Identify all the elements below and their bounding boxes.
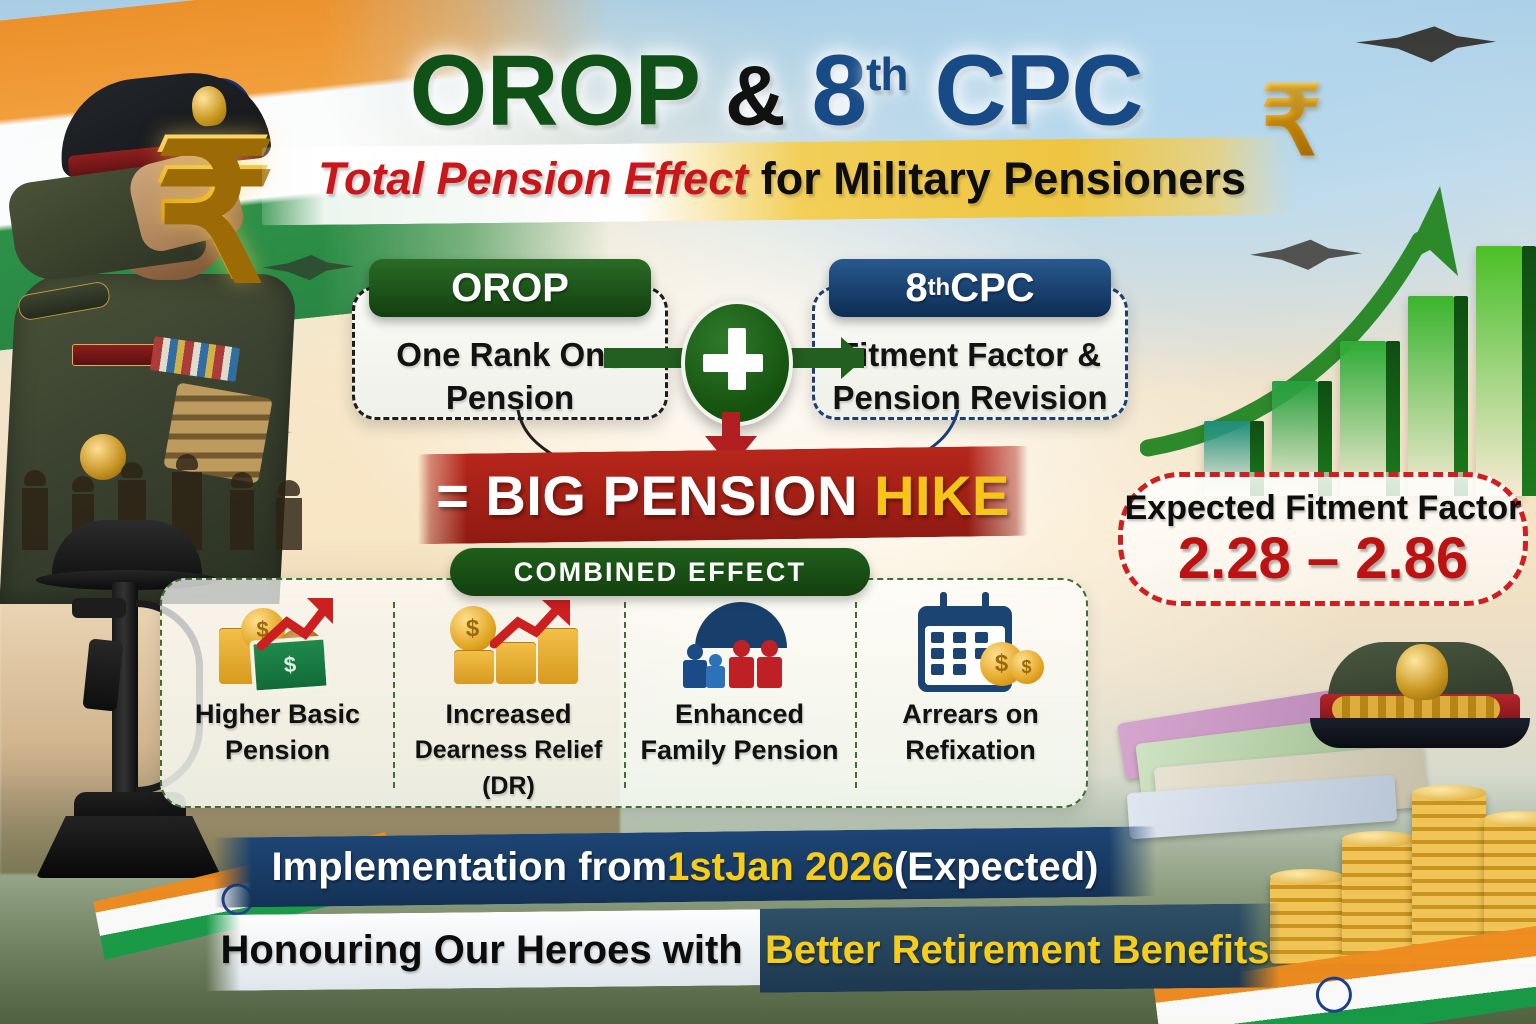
calendar-coins-icon: $ $ xyxy=(896,602,1046,688)
headline-equals: = xyxy=(436,463,469,528)
benefit-2-line1: Enhanced xyxy=(675,699,804,729)
chart-bar-4 xyxy=(1408,296,1454,496)
benefit-increased-dearness-relief[interactable]: $ Increased Dearness Relief (DR) xyxy=(393,580,624,806)
chart-bar-5 xyxy=(1476,246,1522,496)
benefit-2-line2: Family Pension xyxy=(640,732,838,768)
family-umbrella-icon xyxy=(665,602,815,688)
benefit-arrears-on-refixation[interactable]: $ $ Arrears on Refixation xyxy=(855,580,1086,806)
card-orop-line1: One Rank One xyxy=(396,336,623,373)
benefit-label-3: Arrears on Refixation xyxy=(902,696,1039,768)
benefits-panel: $ $ $ Higher Basic Pension $ xyxy=(160,578,1088,808)
subtitle-highlight: Total Pension Effect xyxy=(318,153,748,204)
implementation-date-rest: Jan 2026 xyxy=(725,845,894,890)
coins-stacks-uparrow-icon: $ xyxy=(434,602,584,688)
title-cpc-number: 8 xyxy=(811,34,866,146)
army-officer-peaked-cap xyxy=(1310,642,1526,750)
honour-prefix: Honouring Our Heroes with xyxy=(220,928,742,973)
chart-bar-side-5 xyxy=(1522,246,1536,496)
benefit-0-line1: Higher Basic xyxy=(195,699,360,729)
benefit-3-line1: Arrears on xyxy=(902,699,1039,729)
plus-icon xyxy=(681,300,793,426)
benefit-label-1: Increased Dearness Relief (DR) xyxy=(393,696,624,804)
infographic-canvas: ₹ ₹ OROP & 8th CPC Total Pension Effect … xyxy=(0,0,1536,1024)
combined-effect-badge: COMBINED EFFECT xyxy=(450,548,870,596)
rupee-symbol-chart: ₹ xyxy=(152,116,273,306)
title-orop: OROP xyxy=(410,34,699,146)
pension-growth-bar-chart xyxy=(1148,196,1528,496)
benefit-1-line1: Increased xyxy=(445,699,571,729)
arrow-left-to-plus xyxy=(604,348,690,368)
expected-fitment-factor-callout: Expected Fitment Factor 2.28 – 2.86 xyxy=(1118,472,1528,606)
implementation-prefix: Implementation from xyxy=(272,845,668,890)
benefit-1-line2: Dearness Relief (DR) xyxy=(393,732,624,804)
headline-white: BIG PENSION xyxy=(485,463,858,528)
implementation-suffix: (Expected) xyxy=(894,845,1099,890)
benefit-0-line2: Pension xyxy=(195,732,360,768)
honour-highlight: Better Retirement Benefits xyxy=(765,928,1270,973)
benefit-label-2: Enhanced Family Pension xyxy=(640,696,838,768)
title-cpc-suffix: th xyxy=(866,48,907,100)
fitment-value: 2.28 – 2.86 xyxy=(1178,528,1468,590)
benefit-3-line2: Refixation xyxy=(902,732,1039,768)
implementation-date-sup: st xyxy=(689,845,725,890)
page-title: OROP & 8th CPC xyxy=(336,14,1216,144)
implementation-text: Implementation from 1st Jan 2026 (Expect… xyxy=(214,836,1156,898)
headline-yellow: HIKE xyxy=(874,463,1010,528)
fitment-label: Expected Fitment Factor xyxy=(1125,489,1522,528)
title-cpc: CPC xyxy=(934,34,1142,146)
implementation-date-num: 1 xyxy=(667,845,689,890)
card-cpc-header-sup: th xyxy=(928,274,951,302)
subtitle-rest: for Military Pensioners xyxy=(748,153,1246,204)
page-subtitle: Total Pension Effect for Military Pensio… xyxy=(262,146,1302,212)
headline-big-pension-hike: = BIG PENSION HIKE xyxy=(418,455,1028,535)
soldier-silhouette xyxy=(276,498,302,550)
benefit-higher-basic-pension[interactable]: $ $ $ Higher Basic Pension xyxy=(162,580,393,806)
title-ampersand: & xyxy=(725,48,785,142)
benefit-enhanced-family-pension[interactable]: Enhanced Family Pension xyxy=(624,580,855,806)
benefit-label-0: Higher Basic Pension xyxy=(195,696,360,768)
honour-text: Honouring Our Heroes with Better Retirem… xyxy=(206,916,1284,984)
card-cpc-header-num: 8 xyxy=(905,266,927,311)
card-orop-header: OROP xyxy=(369,259,651,317)
card-cpc-header-rest: CPC xyxy=(950,266,1034,311)
chart-bar-side-4 xyxy=(1454,296,1468,496)
coins-bill-uparrow-icon: $ $ $ xyxy=(203,602,353,688)
card-cpc-header: 8th CPC xyxy=(829,259,1111,317)
